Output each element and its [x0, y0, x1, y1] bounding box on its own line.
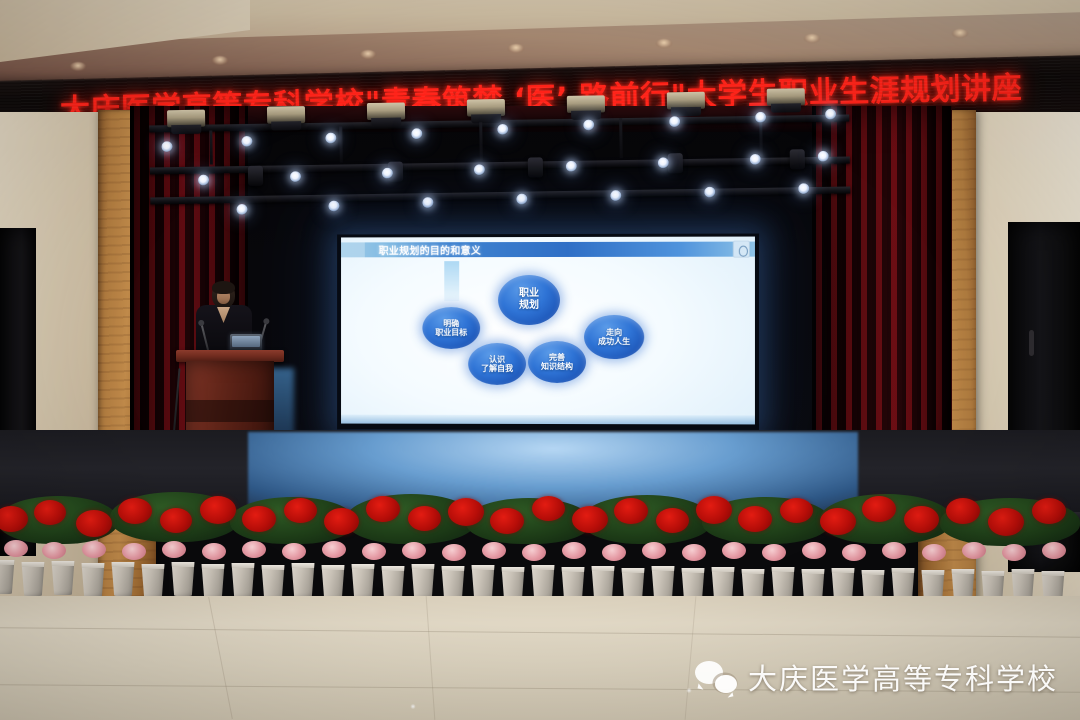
- bubble-line-2: 成功人生: [598, 337, 630, 346]
- flower-pot: [470, 565, 496, 599]
- par-can-light: [790, 149, 805, 169]
- flower-pot: [170, 562, 196, 596]
- pink-flower: [82, 541, 106, 558]
- truss-point-light: [497, 124, 508, 135]
- ceiling-downlight: [804, 34, 820, 43]
- door-handle: [1029, 330, 1034, 356]
- wechat-bubble-small: [715, 675, 737, 693]
- red-poinsettia: [324, 508, 359, 535]
- pink-flower: [842, 544, 866, 561]
- truss-point-light: [798, 183, 809, 194]
- slide-title: 职业规划的目的和意义: [379, 242, 481, 257]
- flower-pot: [380, 566, 406, 600]
- flower-pot: [230, 563, 256, 597]
- pink-flower: [682, 544, 706, 561]
- flower-pot: [260, 565, 286, 599]
- red-poinsettia: [200, 496, 236, 524]
- pink-flower: [4, 540, 28, 557]
- truss-point-light: [566, 161, 577, 172]
- truss-point-light: [382, 168, 393, 179]
- pink-flower: [1042, 542, 1066, 559]
- bubble-line-2: 职业目标: [435, 328, 467, 337]
- red-poinsettia: [696, 496, 732, 524]
- flower-pot: [440, 566, 466, 600]
- ceiling-downlight: [360, 50, 376, 59]
- flower-pot: [0, 560, 16, 594]
- truss-point-light: [704, 187, 715, 198]
- pink-flower: [522, 544, 546, 561]
- lecture-hall-photo: 大庆医学高等专科学校"青春筑梦 ‘医’ 路前行"大学生职业生涯规划讲座: [0, 0, 1080, 720]
- truss-point-light: [198, 175, 209, 186]
- red-poinsettia: [532, 496, 565, 521]
- red-poinsettia: [572, 506, 608, 533]
- red-poinsettia: [242, 506, 276, 532]
- red-poinsettia: [1032, 498, 1066, 524]
- bubble-line-2: 知识结构: [541, 362, 573, 371]
- par-can-light: [528, 157, 543, 177]
- flower-pot: [350, 564, 376, 598]
- pink-flower: [922, 544, 946, 561]
- flower-pot: [110, 562, 136, 596]
- flower-pot: [650, 566, 676, 600]
- par-can-light: [248, 166, 263, 186]
- floor-highlight: [686, 688, 692, 693]
- watermark: 大庆医学高等专科学校: [695, 656, 1058, 698]
- truss-point-light: [750, 154, 761, 165]
- slide-bubble-knowledge-structure: 完善 知识结构: [528, 341, 586, 383]
- ceiling-downlight: [952, 29, 968, 38]
- bubble-line-1: 走向: [606, 328, 622, 337]
- truss-hanger: [209, 131, 213, 165]
- pink-flower: [802, 542, 826, 559]
- flower-pot: [50, 561, 76, 595]
- truss-point-light: [325, 133, 336, 144]
- flower-pot: [200, 564, 226, 598]
- pink-flower: [242, 541, 266, 558]
- truss-point-light: [516, 194, 527, 205]
- pink-flower: [362, 543, 386, 560]
- truss-point-light: [755, 112, 766, 123]
- red-poinsettia: [490, 508, 524, 534]
- pink-flower: [202, 543, 226, 560]
- red-poinsettia: [614, 498, 648, 524]
- truss-point-light: [422, 197, 433, 208]
- stage-light-fixture: [567, 95, 605, 113]
- red-poinsettia: [34, 500, 66, 525]
- pink-flower: [162, 541, 186, 558]
- truss-point-light: [241, 136, 252, 147]
- truss-point-light: [658, 157, 669, 168]
- slide-corner-logo-icon: [733, 241, 750, 258]
- flower-arrangement: [0, 494, 1080, 612]
- bubble-line-1: 完善: [549, 353, 565, 362]
- truss-bar: [150, 187, 850, 205]
- pink-flower: [882, 542, 906, 559]
- bubble-line-1: 认识: [489, 355, 505, 364]
- pink-flower: [642, 542, 666, 559]
- truss-point-light: [290, 171, 301, 182]
- pink-flower: [962, 542, 986, 559]
- truss-point-light: [161, 141, 172, 152]
- pink-flower: [762, 544, 786, 561]
- pink-flower: [122, 543, 146, 560]
- truss-point-light: [825, 109, 836, 120]
- flower-pot: [530, 565, 556, 599]
- truss-hanger: [339, 126, 343, 162]
- red-poinsettia: [284, 498, 317, 523]
- red-poinsettia: [118, 498, 152, 524]
- pink-flower: [402, 542, 426, 559]
- lighting-truss: [149, 113, 851, 234]
- pink-flower: [722, 542, 746, 559]
- red-poinsettia: [946, 498, 980, 524]
- red-poinsettia: [160, 508, 192, 533]
- flower-pot: [140, 564, 166, 598]
- pink-flower: [562, 542, 586, 559]
- ceiling-downlight: [508, 44, 524, 53]
- projection-screen-frame: 职业规划的目的和意义 职业 规划 明确 职业目标 走向 成功人生 认识 了解自我…: [337, 234, 759, 431]
- floor-tile-seam: [208, 597, 233, 719]
- stage-light-fixture: [267, 106, 305, 124]
- ceiling-downlight: [656, 39, 672, 48]
- red-poinsettia: [904, 506, 939, 533]
- projection-screen: 职业规划的目的和意义 职业 规划 明确 职业目标 走向 成功人生 认识 了解自我…: [341, 237, 755, 425]
- red-poinsettia: [780, 498, 813, 523]
- stage-light-fixture: [767, 88, 805, 106]
- red-poinsettia: [862, 496, 896, 522]
- red-poinsettia: [988, 508, 1024, 536]
- slide-bubble-center: 职业 规划: [498, 275, 560, 325]
- pink-flower: [442, 544, 466, 561]
- flower-pot: [590, 566, 616, 600]
- pink-flower: [322, 541, 346, 558]
- red-poinsettia: [820, 508, 856, 535]
- truss-point-light: [328, 201, 339, 212]
- bubble-line-1: 职业: [519, 288, 539, 300]
- flower-pot: [320, 565, 346, 599]
- podium-mid-panel: [186, 400, 274, 422]
- pink-flower: [282, 543, 306, 560]
- slide-bubble-success-life: 走向 成功人生: [584, 315, 644, 359]
- stage-light-fixture: [167, 110, 205, 128]
- truss-hanger: [619, 118, 623, 158]
- red-poinsettia: [408, 506, 441, 531]
- speaker-hair: [212, 281, 235, 294]
- red-poinsettia: [738, 506, 772, 532]
- red-poinsettia: [76, 510, 112, 537]
- red-poinsettia: [656, 508, 689, 533]
- floor-highlight: [410, 704, 416, 709]
- flower-pot: [410, 564, 436, 598]
- truss-point-light: [236, 204, 247, 215]
- truss-hanger: [479, 122, 483, 160]
- truss-point-light: [411, 128, 422, 139]
- bubble-line-2: 规划: [519, 300, 539, 312]
- bubble-line-1: 明确: [443, 319, 459, 328]
- flower-pot: [20, 562, 46, 596]
- watermark-text: 大庆医学高等专科学校: [748, 656, 1058, 698]
- screen-bottom-glow: [341, 415, 755, 425]
- truss-point-light: [610, 190, 621, 201]
- par-can-light: [668, 153, 683, 173]
- stage-light-fixture: [667, 92, 705, 110]
- stage-light-fixture: [367, 102, 405, 120]
- flower-pot: [80, 563, 106, 597]
- ceiling-downlight: [212, 56, 228, 65]
- stage-light-fixture: [467, 99, 505, 117]
- floor-tile-seam: [426, 596, 436, 720]
- ceiling-downlight: [70, 62, 86, 71]
- pink-flower: [602, 544, 626, 561]
- pink-flower: [482, 542, 506, 559]
- truss-point-light: [669, 116, 680, 127]
- red-poinsettia: [366, 496, 400, 522]
- floor-tile-seam: [0, 627, 1080, 637]
- pink-flower: [42, 542, 66, 559]
- truss-point-light: [474, 164, 485, 175]
- slide-bubble-career-goal: 明确 职业目标: [422, 307, 480, 349]
- slide-decoration-bar: [444, 261, 459, 301]
- truss-point-light: [583, 120, 594, 131]
- wechat-icon: [695, 661, 737, 693]
- slide-bubble-self-awareness: 认识 了解自我: [468, 343, 526, 385]
- flower-pot: [290, 563, 316, 597]
- red-poinsettia: [448, 498, 484, 526]
- bubble-line-2: 了解自我: [481, 364, 513, 373]
- pink-flower: [1002, 544, 1026, 561]
